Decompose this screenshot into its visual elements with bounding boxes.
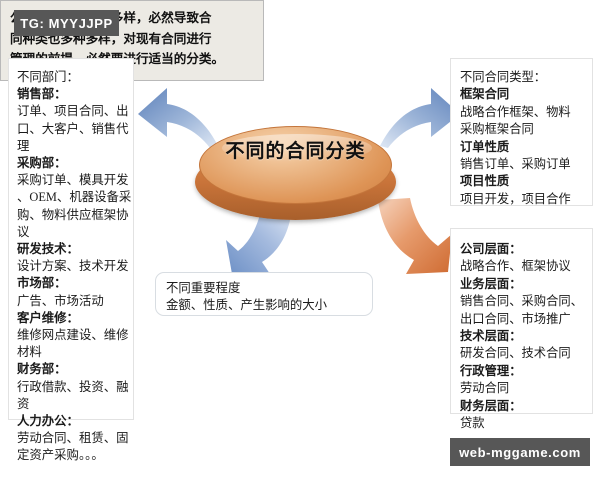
dept-heading: 研发技术： xyxy=(17,241,127,258)
panel-contract-types: 不同合同类型： 框架合同 战略合作框架、物料 采购框架合同 订单性质 销售订单、… xyxy=(450,58,593,206)
ctype-line: 项目开发，项目合作 xyxy=(460,191,586,208)
dept-heading: 财务部： xyxy=(17,361,127,378)
watermark-tag-bottom: web-mggame.com xyxy=(450,438,590,466)
dept-line: 采购订单、模具开发 xyxy=(17,172,127,189)
ctype-heading: 框架合同 xyxy=(460,86,586,103)
level-line: 销售合同、采购合同、 xyxy=(460,293,586,310)
dept-line: 材料 xyxy=(17,344,127,361)
dept-heading: 人力办公： xyxy=(17,413,127,430)
level-line: 贷款 xyxy=(460,415,586,432)
level-line: 劳动合同 xyxy=(460,380,586,397)
dept-heading: 采购部： xyxy=(17,155,127,172)
importance-line: 不同重要程度 xyxy=(166,280,372,297)
panel-importance: 不同重要程度 金额、性质、产生影响的大小 xyxy=(155,272,373,316)
dept-line: 不同部门： xyxy=(17,69,127,86)
ctype-line: 采购框架合同 xyxy=(460,121,586,138)
dept-line: 、OEM、机器设备采 xyxy=(17,189,127,206)
level-line: 战略合作、框架协议 xyxy=(460,258,586,275)
dept-line: 行政借款、投资、融 xyxy=(17,379,127,396)
ctype-heading: 订单性质 xyxy=(460,139,586,156)
dept-line: 广告、市场活动 xyxy=(17,293,127,310)
level-heading: 财务层面： xyxy=(460,398,586,415)
ctype-line: 销售订单、采购订单 xyxy=(460,156,586,173)
dept-line: 口、大客户、销售代 xyxy=(17,121,127,138)
center-label: 不同的合同分类 xyxy=(193,136,398,163)
panel-levels: 公司层面： 战略合作、框架协议 业务层面： 销售合同、采购合同、 出口合同、市场… xyxy=(450,228,593,414)
dept-line: 维修网点建设、维修 xyxy=(17,327,127,344)
center-node: 不同的合同分类 xyxy=(193,124,398,228)
dept-line: 定资产采购。。。 xyxy=(17,447,127,464)
diagram-canvas: TG: MYYJJPP web-mggame.com xyxy=(0,0,600,480)
dept-line: 订单、项目合同、出 xyxy=(17,103,127,120)
dept-heading: 销售部： xyxy=(17,86,127,103)
panel-departments: 不同部门： 销售部： 订单、项目合同、出 口、大客户、销售代 理 采购部： 采购… xyxy=(8,58,134,420)
dept-heading: 客户维修： xyxy=(17,310,127,327)
level-line: 出口合同、市场推广 xyxy=(460,311,586,328)
dept-line: 购、物料供应框架协 xyxy=(17,207,127,224)
importance-line: 金额、性质、产生影响的大小 xyxy=(166,297,372,314)
level-heading: 技术层面： xyxy=(460,328,586,345)
dept-line: 资 xyxy=(17,396,127,413)
ctype-line: 不同合同类型： xyxy=(460,69,586,86)
level-line: 研发合同、技术合同 xyxy=(460,345,586,362)
dept-line: 议 xyxy=(17,224,127,241)
ctype-heading: 项目性质 xyxy=(460,173,586,190)
dept-line: 劳动合同、租赁、固 xyxy=(17,430,127,447)
level-heading: 业务层面： xyxy=(460,276,586,293)
dept-heading: 市场部： xyxy=(17,275,127,292)
level-heading: 行政管理： xyxy=(460,363,586,380)
dept-line: 理 xyxy=(17,138,127,155)
ctype-line: 战略合作框架、物料 xyxy=(460,104,586,121)
level-heading: 公司层面： xyxy=(460,241,586,258)
watermark-tag-top: TG: MYYJJPP xyxy=(14,10,119,36)
dept-line: 设计方案、技术开发 xyxy=(17,258,127,275)
